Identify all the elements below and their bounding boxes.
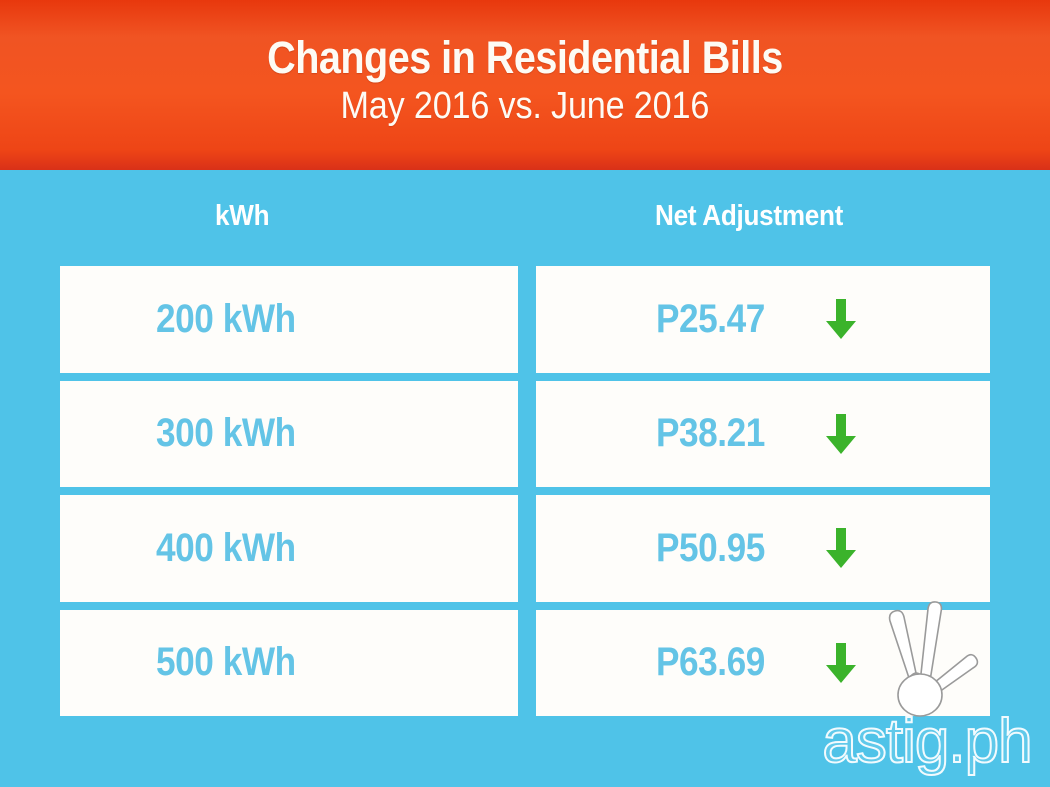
table-row: 500 kWh P63.69 xyxy=(60,610,990,717)
arrow-down-icon xyxy=(824,641,858,685)
column-header-net-adjustment: Net Adjustment xyxy=(655,200,843,233)
table-cell-net-adjustment: P38.21 xyxy=(536,381,990,488)
table-row: 300 kWh P38.21 xyxy=(60,381,990,488)
page-title: Changes in Residential Bills xyxy=(267,35,783,81)
net-adjustment-value: P38.21 xyxy=(656,411,765,456)
net-adjustment-value: P63.69 xyxy=(656,640,765,685)
column-headers: kWh Net Adjustment xyxy=(60,200,990,252)
table-cell-kwh: 500 kWh xyxy=(60,610,518,717)
data-table: 200 kWh P25.47 300 kWh P38.21 40 xyxy=(60,266,990,716)
table-row: 400 kWh P50.95 xyxy=(60,495,990,602)
net-adjustment-value: P25.47 xyxy=(656,297,765,342)
infographic-root: Changes in Residential Bills May 2016 vs… xyxy=(0,0,1050,787)
arrow-down-icon xyxy=(824,412,858,456)
table-cell-net-adjustment: P63.69 xyxy=(536,610,990,717)
table-cell-kwh: 300 kWh xyxy=(60,381,518,488)
watermark-text: astig.ph xyxy=(812,711,1042,773)
kwh-value: 400 kWh xyxy=(156,526,296,571)
net-adjustment-value: P50.95 xyxy=(656,526,765,571)
table-cell-net-adjustment: P25.47 xyxy=(536,266,990,373)
kwh-value: 200 kWh xyxy=(156,297,296,342)
table-cell-kwh: 200 kWh xyxy=(60,266,518,373)
table-row: 200 kWh P25.47 xyxy=(60,266,990,373)
column-header-kwh: kWh xyxy=(215,200,269,233)
table-cell-net-adjustment: P50.95 xyxy=(536,495,990,602)
arrow-down-icon xyxy=(824,526,858,570)
arrow-down-icon xyxy=(824,297,858,341)
kwh-value: 300 kWh xyxy=(156,411,296,456)
page-subtitle: May 2016 vs. June 2016 xyxy=(341,85,710,129)
kwh-value: 500 kWh xyxy=(156,640,296,685)
header-banner: Changes in Residential Bills May 2016 vs… xyxy=(0,0,1050,170)
table-cell-kwh: 400 kWh xyxy=(60,495,518,602)
